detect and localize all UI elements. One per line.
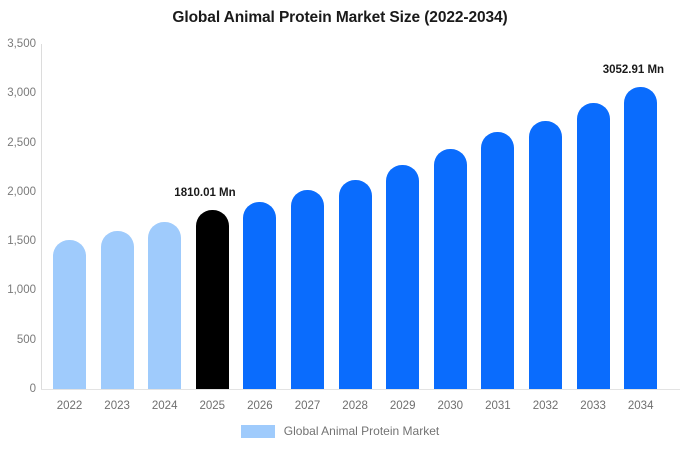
bar-2023[interactable]: [101, 231, 134, 389]
y-axis: 3,5003,0002,5002,0001,5001,0005000: [0, 0, 36, 450]
bar-2027[interactable]: [291, 190, 324, 389]
x-axis-tick-label: 2032: [521, 400, 571, 412]
x-axis-tick-label: 2027: [283, 400, 333, 412]
y-axis-tick-label: 500: [2, 335, 36, 346]
bar-2022[interactable]: [53, 240, 86, 389]
bar-2031[interactable]: [481, 132, 514, 389]
bar-2026[interactable]: [243, 202, 276, 389]
x-axis-tick-label: 2029: [378, 400, 428, 412]
legend-item[interactable]: Global Animal Protein Market: [241, 424, 439, 438]
x-axis-tick-label: 2034: [616, 400, 666, 412]
bar-2029[interactable]: [386, 165, 419, 389]
bar-2034[interactable]: [624, 87, 657, 389]
bar-2032[interactable]: [529, 121, 562, 389]
x-axis-tick-label: 2030: [425, 400, 475, 412]
x-axis-tick-label: 2028: [330, 400, 380, 412]
y-axis-tick-label: 3,500: [2, 39, 36, 50]
x-axis-tick-label: 2026: [235, 400, 285, 412]
x-axis-tick-label: 2024: [140, 400, 190, 412]
bar-2024[interactable]: [148, 222, 181, 389]
y-axis-tick-label: 0: [2, 384, 36, 395]
chart-legend: Global Animal Protein Market: [0, 424, 680, 438]
bar-2025[interactable]: [196, 210, 229, 389]
y-axis-tick-label: 1,000: [2, 285, 36, 296]
x-axis-tick-label: 2023: [92, 400, 142, 412]
data-label-2025: 1810.01 Mn: [174, 187, 235, 199]
x-axis-line: [41, 389, 680, 390]
y-axis-tick-label: 2,000: [2, 187, 36, 198]
x-axis-tick-label: 2033: [568, 400, 618, 412]
x-axis-tick-label: 2031: [473, 400, 523, 412]
y-axis-tick-label: 2,500: [2, 138, 36, 149]
y-axis-tick-label: 1,500: [2, 236, 36, 247]
bar-2030[interactable]: [434, 149, 467, 389]
bar-2028[interactable]: [339, 180, 372, 389]
bars-layer: [41, 44, 680, 389]
y-axis-tick-label: 3,000: [2, 88, 36, 99]
legend-label: Global Animal Protein Market: [284, 424, 439, 438]
bar-2033[interactable]: [577, 103, 610, 389]
chart-container: Global Animal Protein Market Size (2022-…: [0, 0, 680, 450]
chart-title: Global Animal Protein Market Size (2022-…: [0, 9, 680, 27]
x-axis-tick-label: 2025: [187, 400, 237, 412]
legend-swatch-icon: [241, 425, 275, 438]
x-axis-tick-label: 2022: [45, 400, 95, 412]
data-label-2034: 3052.91 Mn: [603, 64, 664, 76]
